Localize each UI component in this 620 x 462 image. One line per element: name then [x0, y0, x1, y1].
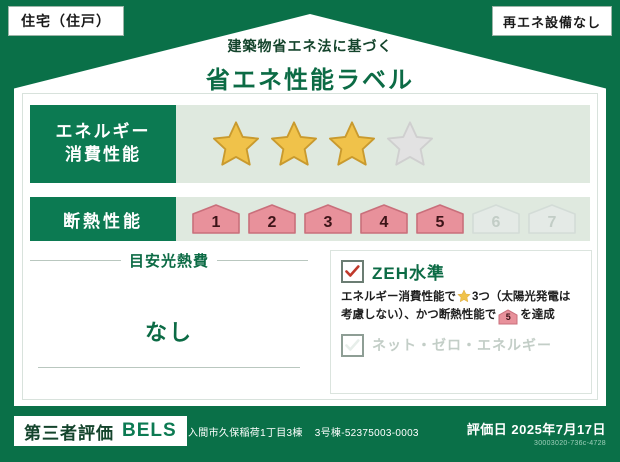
insulation-grade-3: 3 [302, 203, 354, 235]
energy-label-root: 住宅（住戸） 再エネ設備なし 建築物省エネ法に基づく 省エネ性能ラベル エネルギ… [0, 0, 620, 462]
insulation-grade-value: 1 [212, 214, 221, 235]
star-rating [176, 105, 590, 183]
energy-performance-label: エネルギー 消費性能 [30, 105, 176, 183]
property-address: 入間市久保稲荷1丁目3棟 [188, 428, 303, 439]
zeh-desc-part1: エネルギー消費性能で [341, 291, 456, 303]
insulation-grade-value: 7 [548, 214, 557, 235]
insulation-grade-2: 2 [246, 203, 298, 235]
insulation-performance-label: 断熱性能 [30, 197, 176, 241]
utility-cost-panel: 目安光熱費 なし [30, 250, 308, 394]
zeh-panel: ZEH水準 エネルギー消費性能で3つ（太陽光発電は考慮しない）、かつ断熱性能で5… [330, 250, 592, 394]
inline-grade-value: 5 [498, 309, 518, 325]
insulation-grade-scale: 1234567 [176, 197, 590, 241]
insulation-grade-value: 5 [436, 214, 445, 235]
footer-bar: 第三者評価 BELS 入間市久保稲荷1丁目3棟3号棟-52375003-0003… [0, 406, 620, 462]
zeh-desc-part3: を達成 [520, 309, 555, 321]
insulation-grade-5: 5 [414, 203, 466, 235]
insulation-performance-row: 断熱性能 1234567 [30, 197, 590, 241]
utility-cost-header: 目安光熱費 [30, 250, 308, 271]
insulation-grade-value: 3 [324, 214, 333, 235]
net-zero-checkbox[interactable] [341, 334, 364, 357]
rule-left [30, 260, 121, 261]
insulation-grade-value: 4 [380, 214, 389, 235]
insulation-grade-value: 2 [268, 214, 277, 235]
bels-logo: BELS [122, 420, 177, 442]
insulation-grade-6: 6 [470, 203, 522, 235]
title-subtitle: 建築物省エネ法に基づく [0, 36, 620, 56]
insulation-grade-1: 1 [190, 203, 242, 235]
third-party-label: 第三者評価 [24, 419, 114, 444]
energy-performance-row: エネルギー 消費性能 [30, 105, 590, 183]
insulation-grade-7: 7 [526, 203, 578, 235]
utility-cost-value: なし [30, 315, 308, 347]
star-filled-icon [268, 119, 320, 169]
zeh-standard-label: ZEH水準 [372, 259, 445, 284]
energy-label-line1: エネルギー [56, 121, 151, 144]
evaluation-date-block: 評価日 2025年7月17日 30003020-736c-4728 [467, 419, 606, 447]
star-empty-icon [384, 119, 436, 169]
energy-label-line2: 消費性能 [65, 144, 141, 167]
property-address-block: 入間市久保稲荷1丁目3棟3号棟-52375003-0003 [188, 424, 419, 439]
inline-star-icon [457, 289, 471, 303]
evaluation-date-label: 評価日 [467, 422, 508, 437]
evaluation-date: 評価日 2025年7月17日 [467, 419, 606, 438]
utility-cost-title: 目安光熱費 [129, 250, 209, 271]
zeh-description: エネルギー消費性能で3つ（太陽光発電は考慮しない）、かつ断熱性能で5を達成 [341, 289, 581, 325]
net-zero-label: ネット・ゼロ・エネルギー [372, 335, 552, 355]
label-title-block: 建築物省エネ法に基づく 省エネ性能ラベル [0, 36, 620, 95]
net-zero-row: ネット・ゼロ・エネルギー [341, 334, 581, 357]
bels-certification-badge: 第三者評価 BELS [14, 416, 187, 446]
insulation-grade-4: 4 [358, 203, 410, 235]
star-filled-icon [210, 119, 262, 169]
renewable-equipment-badge: 再エネ設備なし [492, 6, 612, 36]
inline-grade-badge: 5 [498, 309, 518, 323]
evaluation-date-value: 2025年7月17日 [511, 422, 606, 437]
zeh-standard-row: ZEH水準 [341, 259, 581, 284]
building-number: 3号棟-52375003-0003 [315, 428, 419, 439]
star-filled-icon [326, 119, 378, 169]
certificate-serial: 30003020-736c-4728 [467, 440, 606, 447]
zeh-checkbox[interactable] [341, 260, 364, 283]
rule-right [217, 260, 308, 261]
page-title: 省エネ性能ラベル [0, 60, 620, 95]
rule-bottom [38, 367, 300, 368]
house-type-badge: 住宅（住戸） [8, 6, 124, 36]
insulation-grade-value: 6 [492, 214, 501, 235]
